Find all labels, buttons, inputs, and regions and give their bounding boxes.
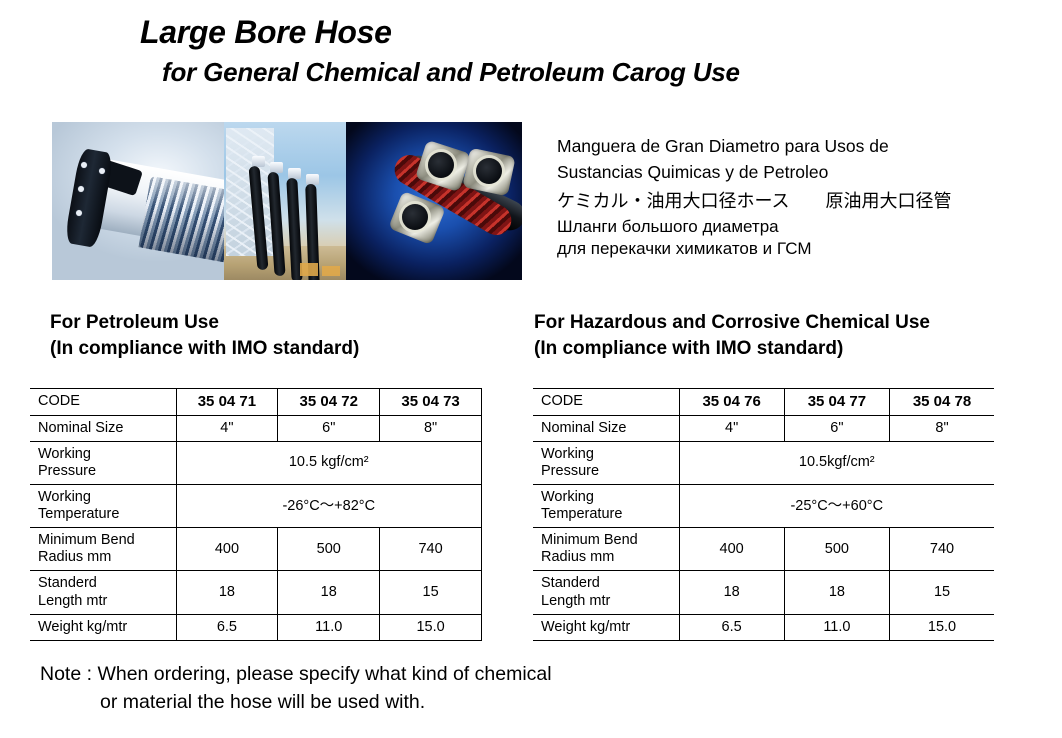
flanged-hose-end-photo bbox=[52, 122, 224, 280]
cell-min-bend-1: 400 bbox=[176, 528, 278, 571]
row-label-line-1: Standerd bbox=[541, 575, 673, 592]
section-heading-line-2: (In compliance with IMO standard) bbox=[50, 336, 359, 362]
spanish-description: Manguera de Gran Diametro para Usos de S… bbox=[557, 134, 1052, 185]
cell-min-bend-2: 500 bbox=[278, 528, 380, 571]
dock-equipment-shape bbox=[300, 263, 318, 276]
table-row-nominal-size: Nominal Size 4" 6" 8" bbox=[30, 415, 482, 441]
row-label-line-2: Radius mm bbox=[541, 549, 673, 566]
cell-nominal-size-2: 6" bbox=[784, 415, 889, 441]
row-label-working-temperature: Working Temperature bbox=[30, 485, 176, 528]
cell-code-3: 35 04 73 bbox=[380, 389, 482, 416]
table-row-code: CODE 35 04 76 35 04 77 35 04 78 bbox=[533, 389, 994, 416]
russian-line-2: для перекачки химикатов и ГСМ bbox=[557, 238, 1052, 260]
cell-standard-length-3: 15 bbox=[890, 571, 994, 614]
cell-min-bend-3: 740 bbox=[380, 528, 482, 571]
japanese-description: ケミカル・油用大口径ホース 原油用大口径管 bbox=[557, 189, 1052, 213]
table-row-standard-length: Standerd Length mtr 18 18 15 bbox=[533, 571, 994, 614]
row-label-line-1: Minimum Bend bbox=[38, 532, 170, 549]
cell-working-temperature: -25°C～+60°C bbox=[679, 485, 994, 528]
cell-working-temperature: -26°C～+82°C bbox=[176, 485, 482, 528]
row-label-line-2: Temperature bbox=[38, 506, 170, 523]
cell-weight-3: 15.0 bbox=[890, 614, 994, 640]
row-label-line-2: Length mtr bbox=[38, 593, 170, 610]
cell-working-pressure: 10.5 kgf/cm² bbox=[176, 441, 482, 484]
row-label-working-pressure: Working Pressure bbox=[30, 441, 176, 484]
spec-table-chemical: CODE 35 04 76 35 04 77 35 04 78 Nominal … bbox=[533, 388, 994, 641]
dock-equipment-shape bbox=[322, 266, 340, 276]
flange-bolt-icon bbox=[81, 162, 87, 168]
cell-weight-3: 15.0 bbox=[380, 614, 482, 640]
cell-nominal-size-3: 8" bbox=[380, 415, 482, 441]
cell-nominal-size-1: 4" bbox=[176, 415, 278, 441]
row-label-line-1: Standerd bbox=[38, 575, 170, 592]
hose-bore-opening bbox=[476, 158, 502, 184]
row-label-working-pressure: Working Pressure bbox=[533, 441, 679, 484]
coupled-hose-ends-photo bbox=[346, 122, 522, 280]
cell-standard-length-2: 18 bbox=[278, 571, 380, 614]
note-line-1: Note : When ordering, please specify wha… bbox=[40, 660, 552, 688]
cell-weight-2: 11.0 bbox=[278, 614, 380, 640]
row-label-code: CODE bbox=[533, 389, 679, 416]
cell-nominal-size-3: 8" bbox=[890, 415, 994, 441]
section-heading-chemical: For Hazardous and Corrosive Chemical Use… bbox=[534, 310, 930, 362]
cell-nominal-size-1: 4" bbox=[679, 415, 784, 441]
table-row-min-bend-radius: Minimum Bend Radius mm 400 500 740 bbox=[30, 528, 482, 571]
flange-bolt-icon bbox=[78, 186, 84, 192]
spec-table-chemical-wrap: CODE 35 04 76 35 04 77 35 04 78 Nominal … bbox=[533, 388, 994, 641]
russian-line-1: Шланги большого диаметра bbox=[557, 216, 1052, 238]
row-label-min-bend-radius: Minimum Bend Radius mm bbox=[30, 528, 176, 571]
table-row-weight: Weight kg/mtr 6.5 11.0 15.0 bbox=[533, 614, 994, 640]
spanish-line-1: Manguera de Gran Diametro para Usos de bbox=[557, 134, 1052, 160]
row-label-line-2: Pressure bbox=[38, 463, 170, 480]
row-label-line-1: Working bbox=[38, 446, 170, 463]
table-row-working-temperature: Working Temperature -26°C～+82°C bbox=[30, 485, 482, 528]
cell-code-1: 35 04 71 bbox=[176, 389, 278, 416]
spanish-line-2: Sustancias Quimicas y de Petroleo bbox=[557, 160, 1052, 186]
spec-table-petroleum: CODE 35 04 71 35 04 72 35 04 73 Nominal … bbox=[30, 388, 482, 641]
cell-standard-length-2: 18 bbox=[784, 571, 889, 614]
page-title: Large Bore Hose bbox=[0, 14, 1062, 51]
row-label-line-1: Working bbox=[541, 489, 673, 506]
multilingual-description: Manguera de Gran Diametro para Usos de S… bbox=[557, 134, 1052, 260]
cell-weight-1: 6.5 bbox=[679, 614, 784, 640]
section-heading-petroleum: For Petroleum Use (In compliance with IM… bbox=[50, 310, 359, 362]
section-heading-line-2: (In compliance with IMO standard) bbox=[534, 336, 930, 362]
row-label-standard-length: Standerd Length mtr bbox=[533, 571, 679, 614]
cell-code-2: 35 04 72 bbox=[278, 389, 380, 416]
marine-loading-arms-photo bbox=[224, 122, 346, 280]
row-label-line-2: Length mtr bbox=[541, 593, 673, 610]
product-photo-strip bbox=[52, 122, 522, 280]
row-label-line-1: Working bbox=[541, 446, 673, 463]
page-title-block: Large Bore Hose for General Chemical and… bbox=[0, 14, 1062, 88]
row-label-code: CODE bbox=[30, 389, 176, 416]
hose-bore-opening bbox=[428, 152, 454, 178]
cell-code-3: 35 04 78 bbox=[890, 389, 994, 416]
table-row-working-temperature: Working Temperature -25°C～+60°C bbox=[533, 485, 994, 528]
row-label-line-2: Temperature bbox=[541, 506, 673, 523]
row-label-line-2: Pressure bbox=[541, 463, 673, 480]
cell-min-bend-2: 500 bbox=[784, 528, 889, 571]
section-heading-line-1: For Petroleum Use bbox=[50, 310, 359, 336]
row-label-min-bend-radius: Minimum Bend Radius mm bbox=[533, 528, 679, 571]
hose-bore-opening bbox=[402, 204, 428, 230]
cell-code-2: 35 04 77 bbox=[784, 389, 889, 416]
cell-code-1: 35 04 76 bbox=[679, 389, 784, 416]
row-label-working-temperature: Working Temperature bbox=[533, 485, 679, 528]
table-row-standard-length: Standerd Length mtr 18 18 15 bbox=[30, 571, 482, 614]
table-row-code: CODE 35 04 71 35 04 72 35 04 73 bbox=[30, 389, 482, 416]
note-line-2: or material the hose will be used with. bbox=[40, 688, 552, 716]
cell-min-bend-1: 400 bbox=[679, 528, 784, 571]
spec-table-petroleum-wrap: CODE 35 04 71 35 04 72 35 04 73 Nominal … bbox=[30, 388, 482, 641]
row-label-line-1: Minimum Bend bbox=[541, 532, 673, 549]
cell-nominal-size-2: 6" bbox=[278, 415, 380, 441]
table-row-working-pressure: Working Pressure 10.5kgf/cm² bbox=[533, 441, 994, 484]
row-label-weight: Weight kg/mtr bbox=[533, 614, 679, 640]
cell-standard-length-3: 15 bbox=[380, 571, 482, 614]
row-label-nominal-size: Nominal Size bbox=[533, 415, 679, 441]
flange-bolt-icon bbox=[99, 168, 105, 174]
cell-weight-2: 11.0 bbox=[784, 614, 889, 640]
flange-bolt-icon bbox=[76, 210, 82, 216]
section-heading-line-1: For Hazardous and Corrosive Chemical Use bbox=[534, 310, 930, 336]
table-row-nominal-size: Nominal Size 4" 6" 8" bbox=[533, 415, 994, 441]
page-subtitle: for General Chemical and Petroleum Carog… bbox=[0, 58, 1062, 88]
cell-working-pressure: 10.5kgf/cm² bbox=[679, 441, 994, 484]
table-row-min-bend-radius: Minimum Bend Radius mm 400 500 740 bbox=[533, 528, 994, 571]
ordering-note: Note : When ordering, please specify wha… bbox=[40, 660, 552, 717]
row-label-nominal-size: Nominal Size bbox=[30, 415, 176, 441]
table-row-weight: Weight kg/mtr 6.5 11.0 15.0 bbox=[30, 614, 482, 640]
row-label-line-1: Working bbox=[38, 489, 170, 506]
row-label-line-2: Radius mm bbox=[38, 549, 170, 566]
cell-weight-1: 6.5 bbox=[176, 614, 278, 640]
cell-min-bend-3: 740 bbox=[890, 528, 994, 571]
row-label-standard-length: Standerd Length mtr bbox=[30, 571, 176, 614]
russian-description: Шланги большого диаметра для перекачки х… bbox=[557, 216, 1052, 260]
cell-standard-length-1: 18 bbox=[176, 571, 278, 614]
row-label-weight: Weight kg/mtr bbox=[30, 614, 176, 640]
cell-standard-length-1: 18 bbox=[679, 571, 784, 614]
table-row-working-pressure: Working Pressure 10.5 kgf/cm² bbox=[30, 441, 482, 484]
